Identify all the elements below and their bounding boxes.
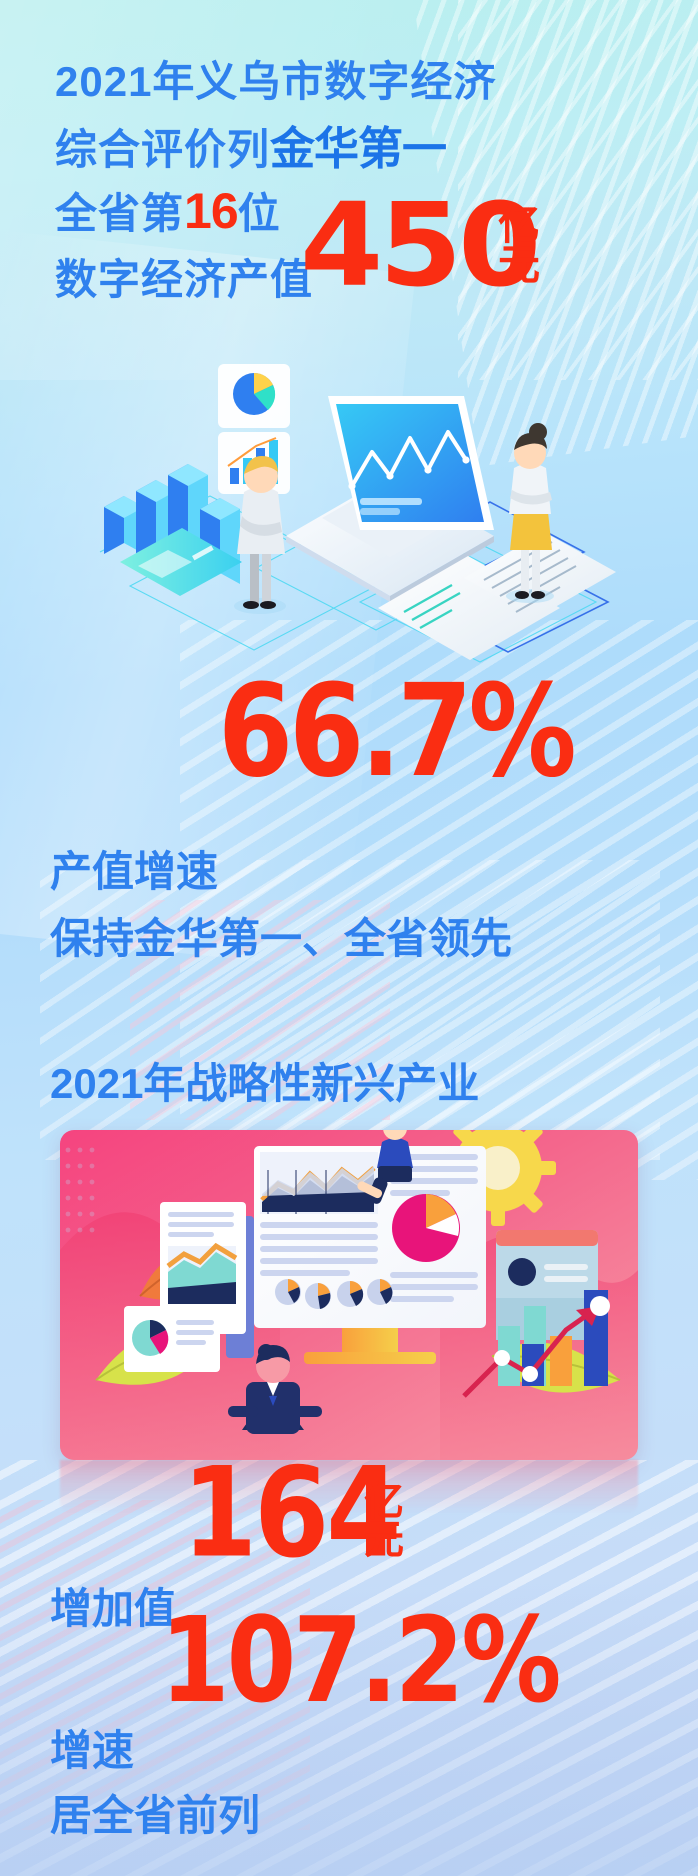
added-value-unit: 亿 元 <box>364 1483 404 1559</box>
growth-rate-label-top: 产值增速 <box>50 838 218 899</box>
headline-line-3: 全省第16位 <box>55 180 281 241</box>
growth-rate-label-bottom-text: 增速 <box>50 1727 134 1774</box>
unit-yi: 亿 <box>498 205 540 245</box>
unit-yuan-2: 元 <box>364 1521 404 1559</box>
headline-line-3-prefix: 全省第 <box>55 190 184 237</box>
pie-chart-large <box>392 1194 460 1262</box>
growth-rate-value-top: 66.7% <box>218 669 573 796</box>
headline-line-1: 2021年义乌市数字经济 <box>55 48 496 109</box>
output-value-unit: 亿 元 <box>498 205 540 285</box>
headline-line-2-prefix: 综合评价列 <box>55 126 270 173</box>
output-value-label: 数字经济产值 <box>55 246 313 307</box>
unit-yuan: 元 <box>498 245 540 285</box>
added-value-label: 增加值 <box>50 1575 176 1636</box>
growth-rate-label-bottom: 增速 <box>50 1717 134 1778</box>
unit-yi-2: 亿 <box>364 1483 404 1521</box>
growth-rate-value-bottom: 107.2% <box>160 1602 559 1720</box>
headline-line-2: 综合评价列金华第一 <box>55 112 446 177</box>
growth-rate-note-top: 保持金华第一、全省领先 <box>50 905 512 966</box>
floating-pie-panel <box>218 364 290 428</box>
isometric-digital-economy-illustration <box>60 340 640 670</box>
growth-rate-note-bottom: 居全省前列 <box>50 1782 260 1843</box>
added-value-label-text: 增加值 <box>50 1585 176 1632</box>
rank-number: 16 <box>184 183 238 239</box>
data-analytics-illustration <box>60 1130 638 1460</box>
section-heading-emerging-industry: 2021年战略性新兴产业 <box>50 1050 479 1111</box>
headline-line-2-emphasis: 金华第一 <box>270 123 446 174</box>
headline-line-3-suffix: 位 <box>238 190 281 237</box>
growth-rate-label-top-text: 产值增速 <box>50 848 218 895</box>
infographic-poster: 2021年义乌市数字经济 综合评价列金华第一 全省第16位 数字经济产值 450… <box>0 0 698 1876</box>
